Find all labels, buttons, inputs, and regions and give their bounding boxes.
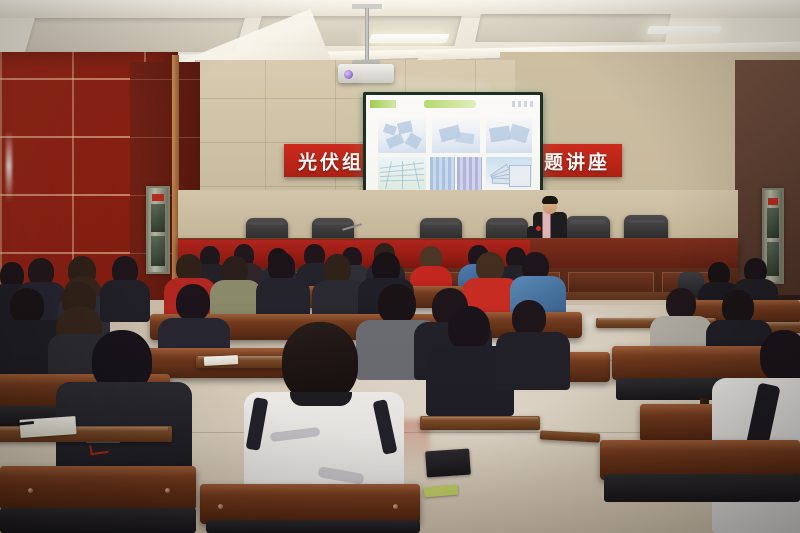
slide-cell-wafer-fan	[486, 157, 532, 191]
cabinet-label	[152, 194, 164, 201]
slide-cell-ingot	[432, 117, 480, 153]
tablet[interactable]	[425, 448, 471, 477]
slide-cell-solar-farm	[378, 157, 426, 191]
projector-mount-pole	[365, 8, 369, 66]
bench-cushion	[206, 520, 420, 533]
slide-cell-wafer-stack	[486, 117, 532, 153]
projector-lens-icon	[344, 70, 353, 79]
slide-header-dots	[512, 101, 534, 107]
presenter-hair	[542, 196, 558, 204]
slide-cell-polysilicon	[378, 117, 426, 153]
slide-header-bar	[366, 99, 540, 110]
ceiling-recess-panel	[475, 14, 671, 42]
slide-title-bar	[424, 100, 476, 108]
cabinet-glass-pane	[151, 236, 165, 266]
slide-cell-purple-cell	[457, 157, 482, 191]
ceiling-light	[368, 34, 450, 43]
writing-desk[interactable]	[420, 416, 540, 430]
bench-back[interactable]	[200, 484, 420, 524]
wall-glare-reflection	[6, 130, 12, 202]
ceiling-recess-panel	[25, 18, 245, 52]
wall-cabinet-left[interactable]	[146, 186, 170, 274]
slide-accent-block	[370, 100, 396, 108]
lecture-hall-photo: 光伏组件 专题讲座	[0, 0, 800, 533]
stage-panel-segment	[568, 272, 654, 293]
jacket-collar	[290, 392, 352, 406]
cabinet-glass-pane	[151, 204, 165, 232]
cabinet-glass-pane	[767, 242, 779, 276]
bench-cushion	[604, 474, 800, 502]
ceiling-light	[647, 26, 722, 34]
cabinet-glass-pane	[767, 208, 779, 238]
bench-back[interactable]	[0, 466, 196, 510]
cabinet-label	[768, 198, 778, 205]
bench-cushion	[0, 508, 196, 533]
notebook[interactable]	[204, 355, 238, 366]
slide-cell-blue-cell	[430, 157, 455, 191]
presenter-badge	[536, 226, 541, 231]
